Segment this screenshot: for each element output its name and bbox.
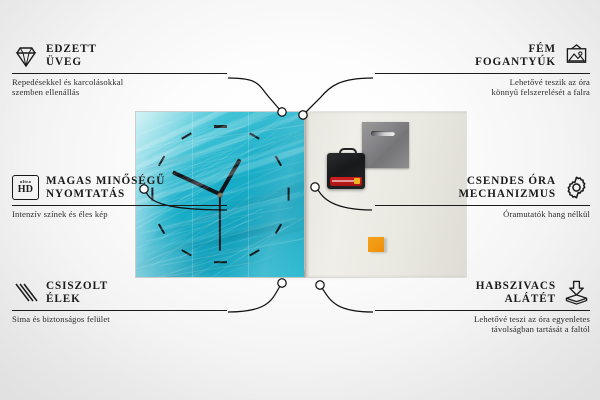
picture-frame-icon: [563, 42, 590, 69]
feature-divider: [375, 205, 590, 206]
feature-title-line2: NYOMTATÁS: [46, 188, 165, 201]
feature-foam-backing: HABSZIVACS ALÁTÉT Lehetővé teszi az óra …: [375, 277, 590, 334]
feature-subtitle-line2: könnyű felszerelését a falra: [375, 87, 590, 97]
feature-divider: [12, 205, 227, 206]
connector-foam-backing: [322, 288, 373, 312]
feature-title-line2: ALÁTÉT: [476, 293, 556, 306]
feature-title-line1: MAGAS MINŐSÉGŰ: [46, 175, 165, 188]
feature-subtitle-line2: szemben ellenállás: [12, 87, 227, 97]
feature-divider: [375, 310, 590, 311]
gear-icon: [563, 174, 590, 201]
feature-polished-edges: CSISZOLT ÉLEK Sima és biztonságos felüle…: [12, 277, 227, 324]
metal-hanger-plate: [362, 122, 409, 168]
feature-title-line1: EDZETT: [46, 43, 97, 56]
feature-subtitle-line1: Repedésekkel és karcolásokkal: [12, 77, 227, 87]
feature-subtitle-line1: Intenzív színek és éles kép: [12, 209, 227, 219]
connector-tempered-glass: [228, 78, 280, 110]
feature-divider: [12, 73, 227, 74]
feature-subtitle-line1: Lehetővé teszik az óra: [375, 77, 590, 87]
feature-title-line1: CSENDES ÓRA: [458, 175, 556, 188]
foam-pad: [368, 237, 384, 252]
feature-title-line2: ÉLEK: [46, 293, 108, 306]
feature-title-line1: FÉM: [475, 43, 556, 56]
battery: [330, 177, 362, 186]
feature-divider: [375, 73, 590, 74]
feature-title-line1: CSISZOLT: [46, 280, 108, 293]
foam-pad-arrow-icon: [563, 279, 590, 306]
polished-edges-icon: [12, 279, 39, 306]
feature-metal-handles: FÉM FOGANTYÚK Lehetővé teszik az óra kön…: [375, 40, 590, 97]
feature-title-line2: FOGANTYÚK: [475, 56, 556, 69]
feature-title-line1: HABSZIVACS: [476, 280, 556, 293]
feature-title-line2: MECHANIZMUS: [458, 188, 556, 201]
feature-subtitle-line1: Óramutatók hang nélkül: [375, 209, 590, 219]
hanger-slot: [371, 131, 395, 136]
diamond-icon: [12, 42, 39, 69]
feature-subtitle-line1: Lehetővé teszi az óra egyenletes: [375, 314, 590, 324]
feature-high-quality-print: ultraHD MAGAS MINŐSÉGŰ NYOMTATÁS Intenzí…: [12, 172, 227, 219]
feature-subtitle-line2: távolságban tartását a faltól: [375, 324, 590, 334]
feature-tempered-glass: EDZETT ÜVEG Repedésekkel és karcolásokka…: [12, 40, 227, 97]
infographic-canvas: EDZETT ÜVEG Repedésekkel és karcolásokka…: [0, 0, 600, 400]
connector-metal-handles: [306, 78, 373, 112]
feature-silent-mechanism: CSENDES ÓRA MECHANIZMUS Óramutatók hang …: [375, 172, 590, 219]
feature-subtitle-line1: Sima és biztonságos felület: [12, 314, 227, 324]
feature-title-line2: ÜVEG: [46, 56, 97, 69]
clock-mechanism: [327, 153, 365, 189]
connector-polished-edges: [228, 286, 280, 312]
feature-divider: [12, 310, 227, 311]
mechanism-hanging-loop: [339, 148, 357, 158]
ultra-hd-icon: ultraHD: [12, 174, 39, 201]
